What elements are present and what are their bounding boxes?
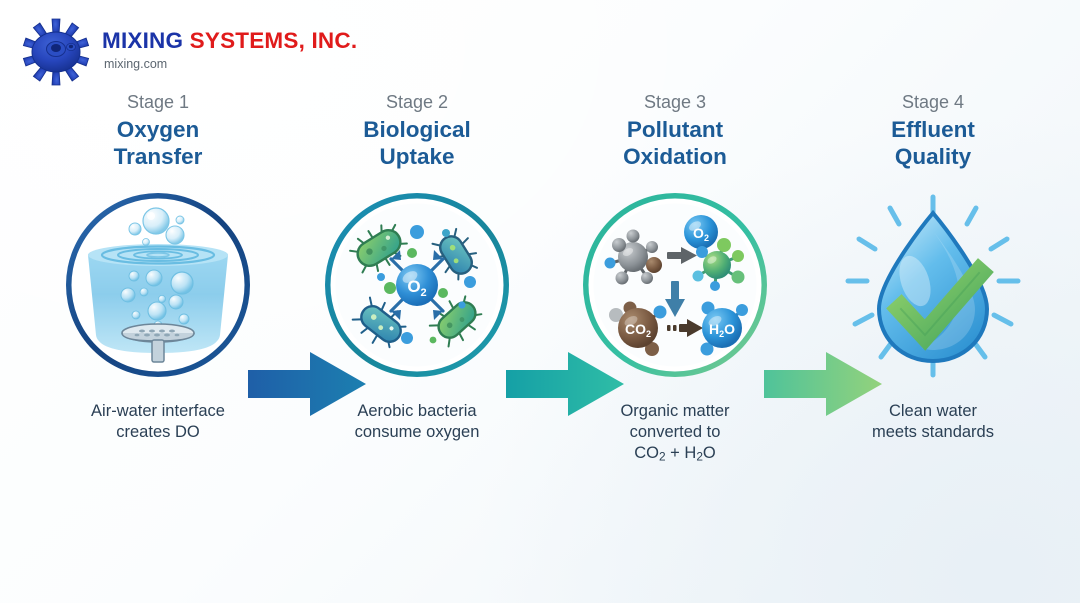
blue-gear-impeller-icon xyxy=(18,16,94,88)
stage-3-caption-line2: converted to xyxy=(558,422,792,443)
stage-2-title: Biological Uptake xyxy=(292,116,542,171)
stage-4-kicker: Stage 4 xyxy=(808,92,1058,113)
stage-1-title-line2: Transfer xyxy=(33,143,283,170)
brand-website: mixing.com xyxy=(104,57,357,71)
water-tank-diffuser-bubbles-icon xyxy=(58,185,258,385)
stage-2-title-line1: Biological xyxy=(363,117,471,142)
brand-name-part2: SYSTEMS, INC. xyxy=(190,28,358,53)
stage-2-kicker: Stage 2 xyxy=(292,92,542,113)
stage-2-caption-line2: consume oxygen xyxy=(300,422,534,443)
stage-2-title-line2: Uptake xyxy=(292,143,542,170)
arrow-stage3-to-stage4 xyxy=(764,344,884,424)
arrow-stage1-to-stage2 xyxy=(248,344,368,424)
stage-1-kicker: Stage 1 xyxy=(33,92,283,113)
stage-3-kicker: Stage 3 xyxy=(550,92,800,113)
stage-1-title-line1: Oxygen xyxy=(117,117,200,142)
stage-3-title-line2: Oxidation xyxy=(550,143,800,170)
stage-1-title: Oxygen Transfer xyxy=(33,116,283,171)
stage-3-title-line1: Pollutant xyxy=(627,117,723,142)
brand-name-part1: MIXING xyxy=(102,28,183,53)
brand-name: MIXING SYSTEMS, INC. xyxy=(102,28,357,53)
stage-4-caption-line2: meets standards xyxy=(816,422,1050,443)
arrow-stage2-to-stage3 xyxy=(506,344,626,424)
brand-logo: MIXING SYSTEMS, INC. mixing.com xyxy=(18,16,357,88)
stage-1-caption-line2: creates DO xyxy=(41,422,275,443)
process-flow: Stage 1 Oxygen Transfer xyxy=(0,92,1080,512)
stage-3-caption-line3: CO2 + H2O xyxy=(558,443,792,465)
stage-1-caption-line1: Air-water interface xyxy=(41,401,275,422)
stage-4-title-line1: Effluent xyxy=(891,117,975,142)
stage-1-caption: Air-water interface creates DO xyxy=(33,401,283,443)
stage-card-1: Stage 1 Oxygen Transfer xyxy=(33,92,283,443)
stage-3-title: Pollutant Oxidation xyxy=(550,116,800,171)
stage-4-title: Effluent Quality xyxy=(808,116,1058,171)
stage-4-title-line2: Quality xyxy=(808,143,1058,170)
